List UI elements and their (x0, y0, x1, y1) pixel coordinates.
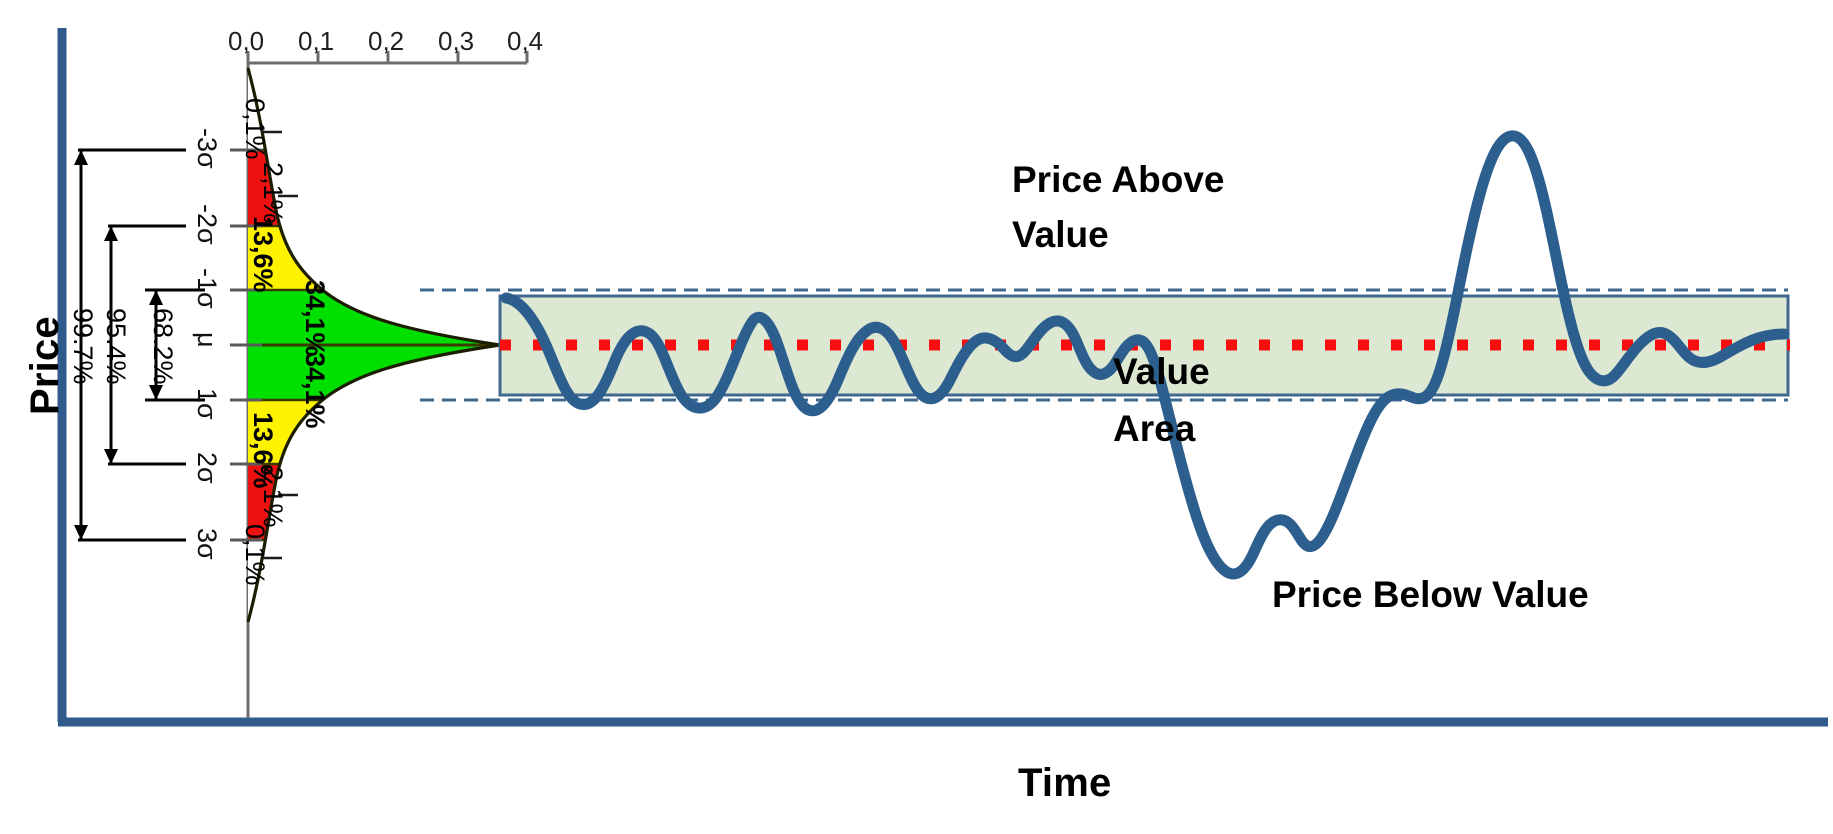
sigma-label-plus2: 2σ (190, 452, 222, 484)
bracket-997-arrow-bottom (74, 525, 88, 540)
bracket-954-arrow-top (104, 226, 118, 241)
sigma-label-plus1: 1σ (190, 388, 222, 420)
x-axis-title: Time (1018, 760, 1111, 807)
sigma-label-mu: μ (190, 332, 222, 348)
band-label-2: 13,6% (246, 216, 278, 293)
sigma-label-minus2: -2σ (190, 204, 222, 245)
sigma-label-plus3: 3σ (190, 528, 222, 560)
distribution-bands (240, 60, 540, 640)
density-tick-label-1: 0,1 (298, 26, 334, 57)
band-label-0: 0,1% (238, 98, 270, 160)
sigma-label-minus3: -3σ (190, 128, 222, 169)
density-tick-label-3: 0,3 (438, 26, 474, 57)
band-upper-outer (240, 60, 540, 150)
annotation-price-above-line1: Price Above (1012, 158, 1225, 202)
bracket-682-arrow-bottom (149, 385, 163, 400)
band-label-7: 0,1% (238, 524, 270, 586)
band-mu-plus1 (240, 345, 540, 400)
density-tick-label-2: 0,2 (368, 26, 404, 57)
density-tick-label-4: 0,4 (507, 26, 543, 57)
annotation-value-area-line2: Area (1113, 407, 1195, 451)
bracket-682-arrow-top (149, 290, 163, 305)
band-lower-outer (240, 540, 540, 640)
band-label-6: 2,1% (256, 466, 288, 528)
bracket-954-arrow-bottom (104, 449, 118, 464)
figure-root: 0,0 0,1 0,2 0,3 0,4 -3σ -2σ -1σ μ 1σ 2σ … (0, 0, 1833, 834)
y-axis-title: Price (22, 316, 69, 415)
band-label-1: 2,1% (256, 162, 288, 224)
band-label-4: 34,1% (298, 352, 330, 429)
bracket-997-arrow-top (74, 150, 88, 165)
band-minus1-mu (240, 290, 540, 345)
band-minus2-minus1 (240, 226, 540, 290)
annotation-price-above-line2: Value (1012, 213, 1109, 257)
coverage-label-997: 99.7% (66, 308, 98, 385)
coverage-label-682: 68.2% (146, 308, 178, 385)
annotation-price-below: Price Below Value (1272, 573, 1589, 617)
coverage-label-954: 95.4% (99, 308, 131, 385)
sigma-label-minus1: -1σ (190, 268, 222, 309)
annotation-value-area-line1: Value (1113, 350, 1210, 394)
band-label-3: 34,1% (298, 280, 330, 357)
band-plus1-plus2 (240, 400, 540, 464)
density-tick-label-0: 0,0 (228, 26, 264, 57)
